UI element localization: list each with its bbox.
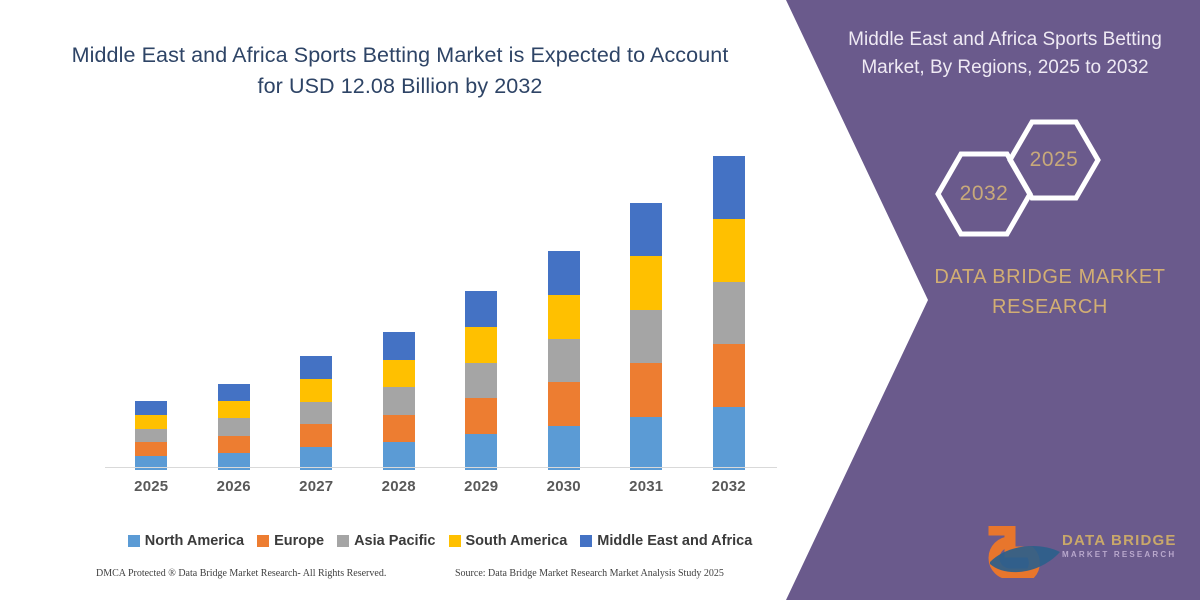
page-title: Middle East and Africa Sports Betting Ma… [60, 40, 740, 102]
bar-segment-europe-2028[interactable] [383, 415, 415, 443]
logo-wordmark-secondary: MARKET RESEARCH [1062, 549, 1188, 561]
bar-segment-south-america-2025[interactable] [135, 415, 167, 429]
legend-label: South America [466, 533, 568, 549]
brand-panel-title: Middle East and Africa Sports Betting Ma… [820, 26, 1190, 82]
source-note: Source: Data Bridge Market Research Mark… [455, 568, 724, 579]
legend-item-south-america[interactable]: South America [449, 533, 568, 549]
bar-segment-north-america-2031[interactable] [630, 417, 662, 470]
x-tick-2028: 2028 [364, 478, 434, 495]
bar-segment-asia-pacific-2029[interactable] [465, 363, 497, 399]
bar-segment-europe-2027[interactable] [300, 424, 332, 447]
data-bridge-b-icon [988, 526, 1062, 578]
bar-segment-europe-2026[interactable] [218, 436, 250, 453]
bar-segment-south-america-2030[interactable] [548, 295, 580, 339]
bar-segment-south-america-2032[interactable] [713, 219, 745, 282]
bar-segment-south-america-2031[interactable] [630, 256, 662, 309]
legend-item-asia-pacific[interactable]: Asia Pacific [337, 533, 435, 549]
bar-segment-south-america-2028[interactable] [383, 360, 415, 388]
bar-segment-middle-east-and-africa-2030[interactable] [548, 251, 580, 295]
chart-legend: North AmericaEuropeAsia PacificSouth Ame… [110, 530, 770, 552]
bar-chart-plot-area [110, 140, 770, 470]
legend-label: Europe [274, 533, 324, 549]
logo-wordmark: DATA BRIDGE MARKET RESEARCH [1062, 532, 1188, 561]
legend-item-middle-east-and-africa[interactable]: Middle East and Africa [580, 533, 752, 549]
bar-segment-asia-pacific-2026[interactable] [218, 418, 250, 435]
legend-item-europe[interactable]: Europe [257, 533, 324, 549]
legend-swatch-icon [257, 535, 269, 547]
legend-swatch-icon [128, 535, 140, 547]
bar-segment-europe-2029[interactable] [465, 398, 497, 434]
dmca-notice: DMCA Protected ® Data Bridge Market Rese… [96, 568, 386, 579]
legend-label: North America [145, 533, 244, 549]
x-tick-2029: 2029 [446, 478, 516, 495]
bar-segment-europe-2031[interactable] [630, 363, 662, 416]
x-tick-2025: 2025 [116, 478, 186, 495]
bar-segment-north-america-2030[interactable] [548, 426, 580, 470]
bar-segment-asia-pacific-2028[interactable] [383, 387, 415, 415]
infographic-root: Middle East and Africa Sports Betting Ma… [0, 0, 1200, 600]
x-tick-2032: 2032 [694, 478, 764, 495]
bar-segment-asia-pacific-2032[interactable] [713, 282, 745, 345]
bar-2027[interactable] [300, 356, 332, 470]
bar-segment-asia-pacific-2031[interactable] [630, 310, 662, 363]
bar-segment-south-america-2027[interactable] [300, 379, 332, 402]
bar-segment-south-america-2029[interactable] [465, 327, 497, 363]
logo-wordmark-primary: DATA BRIDGE [1062, 532, 1188, 549]
bar-segment-europe-2030[interactable] [548, 382, 580, 426]
legend-swatch-icon [337, 535, 349, 547]
bar-segment-middle-east-and-africa-2028[interactable] [383, 332, 415, 360]
legend-item-north-america[interactable]: North America [128, 533, 244, 549]
footer: DMCA Protected ® Data Bridge Market Rese… [0, 566, 800, 588]
bar-segment-europe-2025[interactable] [135, 442, 167, 456]
x-tick-2027: 2027 [281, 478, 351, 495]
bar-segment-asia-pacific-2027[interactable] [300, 402, 332, 425]
x-axis-labels: 20252026202720282029203020312032 [110, 478, 770, 502]
hexagon-badge-end-year-label: 2025 [1030, 148, 1079, 172]
x-tick-2031: 2031 [611, 478, 681, 495]
bar-2032[interactable] [713, 156, 745, 470]
bar-segment-middle-east-and-africa-2032[interactable] [713, 156, 745, 219]
legend-label: Middle East and Africa [597, 533, 752, 549]
bar-segment-asia-pacific-2030[interactable] [548, 339, 580, 383]
legend-swatch-icon [580, 535, 592, 547]
x-tick-2026: 2026 [199, 478, 269, 495]
bar-2031[interactable] [630, 203, 662, 470]
legend-swatch-icon [449, 535, 461, 547]
bar-segment-asia-pacific-2025[interactable] [135, 429, 167, 443]
x-tick-2030: 2030 [529, 478, 599, 495]
bar-segment-north-america-2028[interactable] [383, 442, 415, 470]
hexagon-badge-start-year-label: 2032 [960, 182, 1009, 206]
bar-2028[interactable] [383, 332, 415, 470]
bar-segment-middle-east-and-africa-2025[interactable] [135, 401, 167, 415]
bar-2029[interactable] [465, 291, 497, 470]
bar-segment-north-america-2029[interactable] [465, 434, 497, 470]
bar-2026[interactable] [218, 384, 250, 470]
bar-segment-middle-east-and-africa-2026[interactable] [218, 384, 250, 401]
bar-segment-middle-east-and-africa-2027[interactable] [300, 356, 332, 379]
bar-2025[interactable] [135, 401, 167, 470]
bar-segment-middle-east-and-africa-2029[interactable] [465, 291, 497, 327]
bar-segment-middle-east-and-africa-2031[interactable] [630, 203, 662, 256]
legend-label: Asia Pacific [354, 533, 435, 549]
bar-segment-europe-2032[interactable] [713, 344, 745, 407]
company-logo: DATA BRIDGE MARKET RESEARCH [988, 522, 1188, 582]
bar-segment-north-america-2032[interactable] [713, 407, 745, 470]
bar-2030[interactable] [548, 251, 580, 470]
bar-segment-south-america-2026[interactable] [218, 401, 250, 418]
x-axis-line [105, 467, 777, 468]
chart-panel: Middle East and Africa Sports Betting Ma… [0, 0, 800, 600]
brand-name: DATA BRIDGE MARKET RESEARCH [900, 262, 1200, 322]
hexagon-badge-end-year: 2025 [1006, 118, 1102, 202]
